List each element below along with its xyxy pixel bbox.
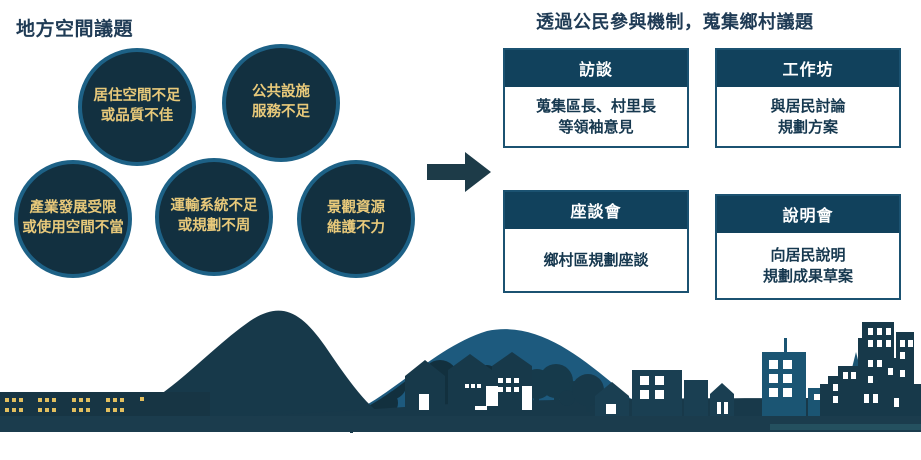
issue-line-2: 或品質不佳	[101, 108, 174, 124]
slide-canvas: 地方空間議題 居住空間不足 或品質不佳 公共設施 服務不足 產業發展受限 或使用…	[0, 0, 921, 460]
issue-bubble-transport[interactable]: 運輸系統不足 或規劃不周	[155, 158, 273, 276]
low-rise-buildings	[595, 370, 734, 416]
left-panel-heading: 地方空間議題	[16, 14, 133, 41]
card-line-2: 規劃方案	[778, 118, 838, 136]
issue-bubble-housing[interactable]: 居住空間不足 或品質不佳	[78, 48, 196, 166]
issue-line-2: 或使用空間不當	[22, 220, 124, 236]
card-line-2: 規劃成果草案	[763, 267, 853, 285]
issue-line-2: 維護不力	[327, 220, 385, 236]
issue-bubble-text: 公共設施 服務不足	[248, 83, 314, 122]
issue-bubble-text: 居住空間不足 或品質不佳	[90, 87, 185, 126]
method-card-workshop[interactable]: 工作坊 與居民討論 規劃方案	[715, 48, 901, 148]
issue-bubble-text: 產業發展受限 或使用空間不當	[18, 199, 128, 238]
issue-line-1: 公共設施	[252, 84, 310, 100]
issue-line-2: 服務不足	[252, 104, 310, 120]
issue-bubble-text: 運輸系統不足 或規劃不周	[167, 197, 262, 236]
card-title: 說明會	[717, 196, 899, 233]
issue-bubble-landscape[interactable]: 景觀資源 維護不力	[297, 160, 415, 278]
card-title: 訪談	[505, 50, 687, 87]
method-card-briefing[interactable]: 說明會 向居民說明 規劃成果草案	[715, 194, 901, 300]
card-title: 座談會	[505, 192, 687, 229]
issue-line-2: 或規劃不周	[178, 218, 251, 234]
card-line-1: 向居民說明	[770, 246, 845, 264]
card-body: 向居民說明 規劃成果草案	[717, 233, 899, 298]
card-line-2: 等領袖意見	[558, 118, 633, 136]
baseline-shadow	[770, 424, 921, 430]
card-body: 鄉村區規劃座談	[505, 229, 687, 291]
issue-bubble-text: 景觀資源 維護不力	[323, 199, 389, 238]
card-line-1: 與居民討論	[770, 97, 845, 115]
issue-bubble-public-facility[interactable]: 公共設施 服務不足	[222, 44, 340, 162]
method-card-interview[interactable]: 訪談 蒐集區長、村里長 等領袖意見	[503, 48, 689, 148]
rural-to-urban-skyline-illustration	[0, 298, 921, 460]
issue-bubble-industry[interactable]: 產業發展受限 或使用空間不當	[14, 160, 132, 278]
method-card-forum[interactable]: 座談會 鄉村區規劃座談	[503, 190, 689, 293]
issue-line-1: 居住空間不足	[94, 88, 181, 104]
card-body: 與居民討論 規劃方案	[717, 87, 899, 146]
city-skyline	[820, 322, 921, 420]
issue-line-1: 景觀資源	[327, 200, 385, 216]
right-arrow-icon	[427, 152, 491, 192]
right-panel-heading: 透過公民參與機制，蒐集鄉村議題	[536, 8, 814, 34]
card-line-1: 鄉村區規劃座談	[543, 251, 648, 269]
card-title: 工作坊	[717, 50, 899, 87]
card-body: 蒐集區長、村里長 等領袖意見	[505, 87, 687, 146]
card-line-1: 蒐集區長、村里長	[536, 97, 656, 115]
issue-line-1: 運輸系統不足	[171, 198, 258, 214]
issue-line-1: 產業發展受限	[30, 200, 117, 216]
